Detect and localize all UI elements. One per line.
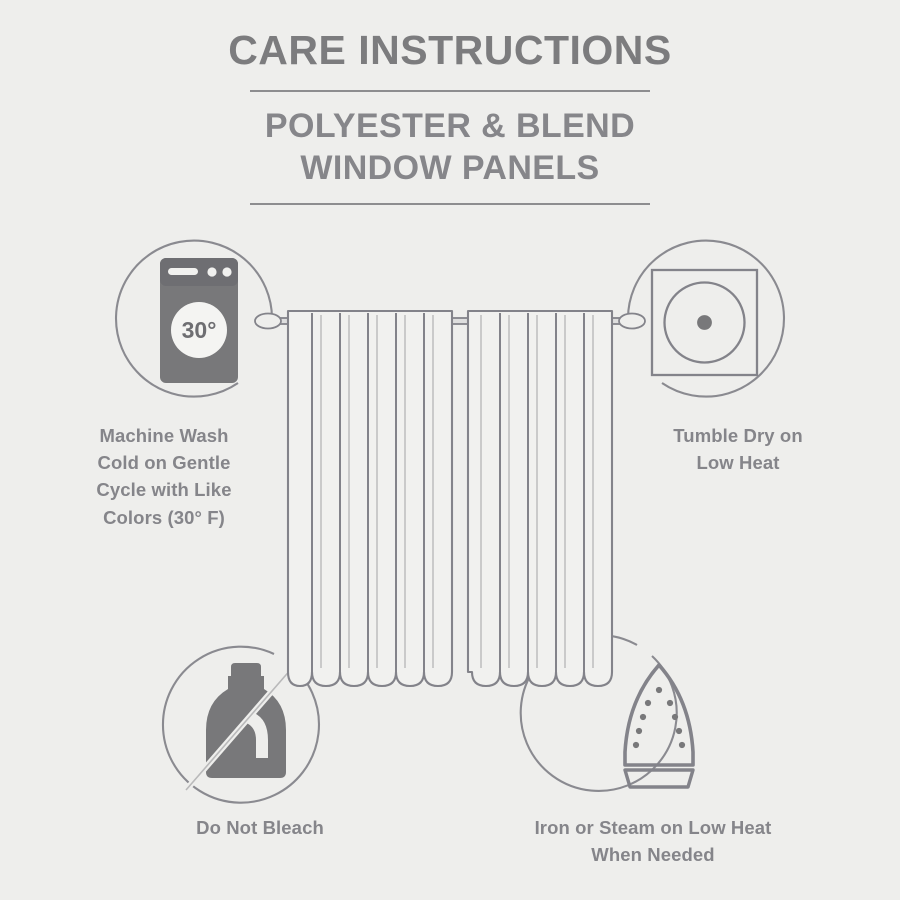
caption-iron: Iron or Steam on Low Heat When Needed [478,814,828,868]
caption-line: Low Heat [612,449,864,476]
caption-line: Iron or Steam on Low Heat [478,814,828,841]
caption-line: When Needed [478,841,828,868]
caption-line: Cycle with Like [38,476,290,503]
caption-do-not-bleach: Do Not Bleach [130,814,390,841]
washing-machine-temp-label: 30° [182,317,217,343]
caption-line: Do Not Bleach [130,814,390,841]
caption-machine-wash: Machine Wash Cold on Gentle Cycle with L… [38,422,290,531]
iron-steam-icon [625,665,693,787]
caption-tumble-dry: Tumble Dry on Low Heat [612,422,864,476]
caption-line: Colors (30° F) [38,504,290,531]
curtain-panel-right [468,311,612,686]
caption-line: Machine Wash [38,422,290,449]
caption-line: Cold on Gentle [38,449,290,476]
tumble-dry-low-icon [652,270,757,375]
curtain-panel-left [288,311,452,686]
caption-line: Tumble Dry on [612,422,864,449]
no-bleach-icon [186,663,292,790]
care-instructions-card: CARE INSTRUCTIONS POLYESTER & BLEND WIND… [0,0,900,900]
